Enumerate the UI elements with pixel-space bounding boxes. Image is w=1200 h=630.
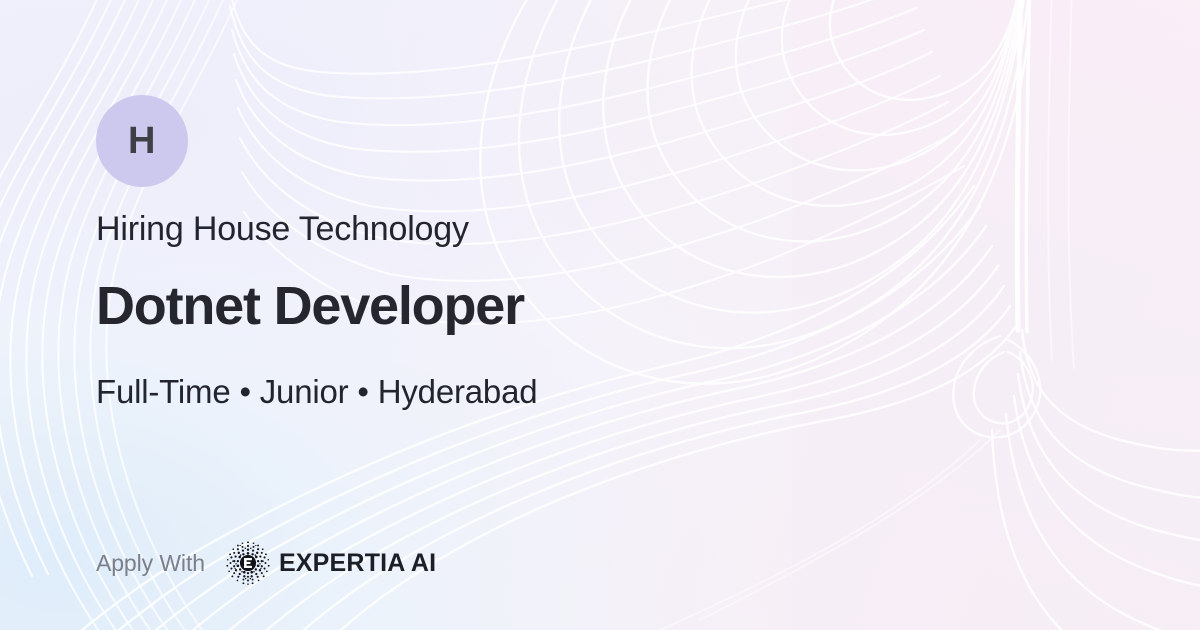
- expertia-dotted-e-icon: [225, 540, 271, 586]
- job-meta: Full-Time • Junior • Hyderabad: [96, 373, 537, 411]
- company-avatar: H: [96, 95, 188, 187]
- expertia-wordmark: EXPERTIA AI: [279, 551, 436, 576]
- job-title: Dotnet Developer: [96, 276, 524, 336]
- apply-with-row: Apply With: [96, 542, 436, 584]
- card-content: H Hiring House Technology Dotnet Develop…: [96, 0, 816, 630]
- company-name: Hiring House Technology: [96, 210, 469, 249]
- expertia-brand: EXPERTIA AI: [225, 540, 436, 586]
- job-posting-card: H Hiring House Technology Dotnet Develop…: [0, 0, 1200, 630]
- avatar-initial: H: [128, 122, 156, 160]
- apply-with-label: Apply With: [96, 552, 205, 575]
